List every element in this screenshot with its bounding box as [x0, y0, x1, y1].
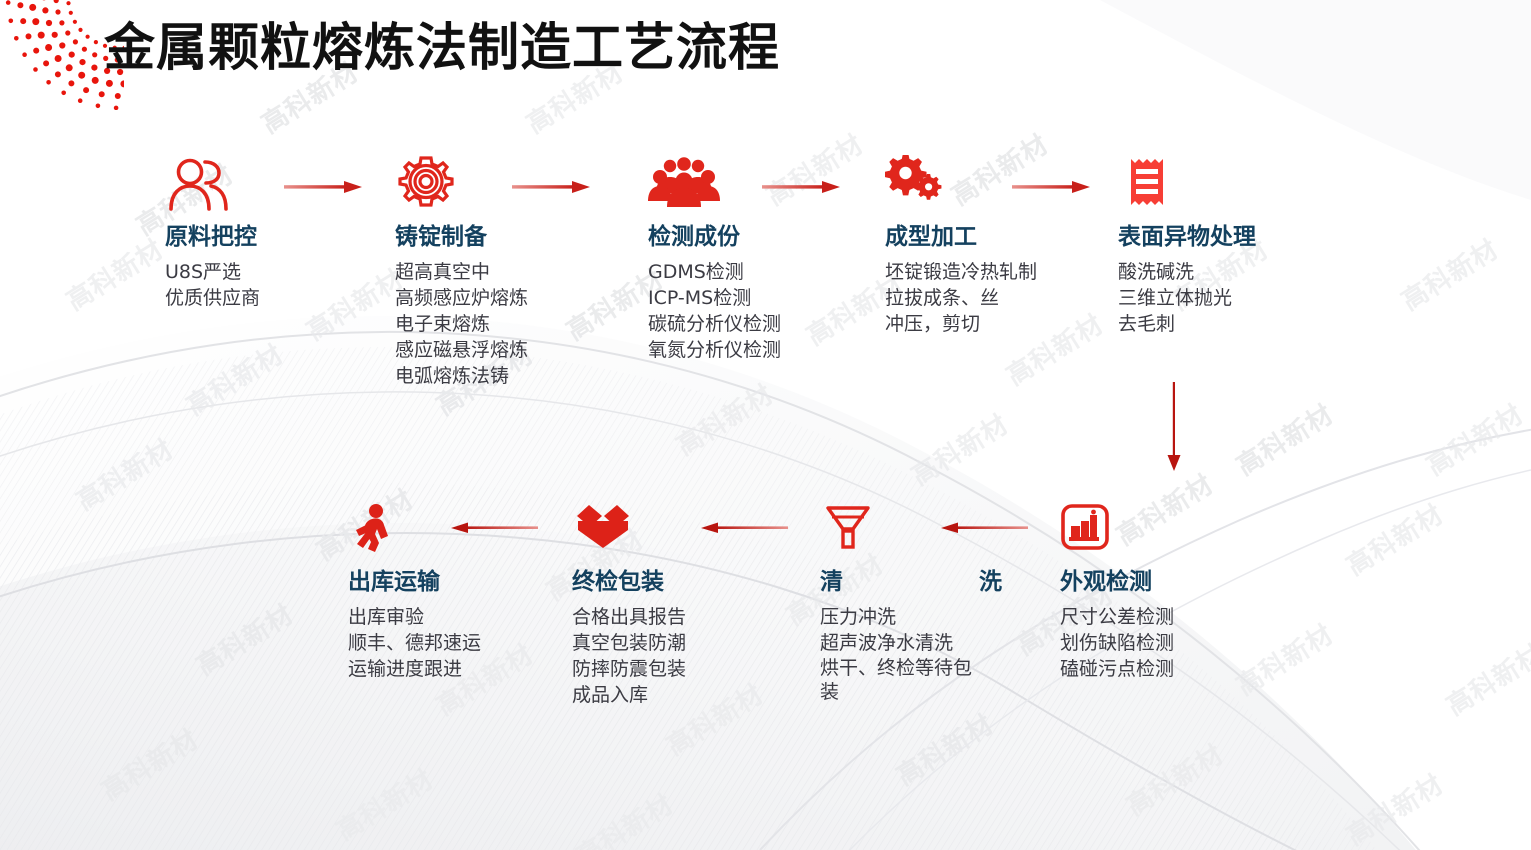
- walking-person-icon: [348, 500, 400, 556]
- step-item: 成品入库: [572, 682, 686, 708]
- flow-step-7[interactable]: 清 洗 压力冲洗 超声波净水清洗 烘干、终检等待包装: [820, 500, 1032, 704]
- step-item: 防摔防震包装: [572, 656, 686, 682]
- step-items: U8S严选 优质供应商: [165, 259, 260, 311]
- step-item: 真空包装防潮: [572, 630, 686, 656]
- people-group-icon: [648, 155, 720, 211]
- step-item: 酸洗碱洗: [1118, 259, 1256, 285]
- flow-step-6[interactable]: 外观检测 尺寸公差检测 划伤缺陷检测 磕碰污点检测: [1060, 500, 1174, 682]
- step-item: 压力冲洗: [820, 604, 1032, 630]
- flow-step-1[interactable]: 原料把控 U8S严选 优质供应商: [165, 155, 260, 311]
- step-title: 原料把控: [165, 217, 260, 251]
- step-items: 压力冲洗 超声波净水清洗 烘干、终检等待包装: [820, 604, 1032, 704]
- step-item: 高频感应炉熔炼: [395, 285, 528, 311]
- step-item: 电子束熔炼: [395, 311, 528, 337]
- factory-inspect-icon: [1060, 500, 1110, 556]
- step-item: ICP-MS检测: [648, 285, 781, 311]
- step-item: 优质供应商: [165, 285, 260, 311]
- gears-icon: [885, 155, 947, 211]
- step-title: 出库运输: [348, 562, 481, 596]
- step-item: 超高真空中: [395, 259, 528, 285]
- step-title: 表面异物处理: [1118, 217, 1256, 251]
- open-box-icon: [572, 500, 634, 556]
- step-item: 冲压，剪切: [885, 311, 1037, 337]
- step-items: GDMS检测 ICP-MS检测 碳硫分析仪检测 氧氮分析仪检测: [648, 259, 781, 363]
- step-item: GDMS检测: [648, 259, 781, 285]
- step-item: 磕碰污点检测: [1060, 656, 1174, 682]
- two-people-icon: [165, 155, 231, 211]
- step-item: 电弧熔炼法铸: [395, 363, 528, 389]
- step-item: 超声波净水清洗: [820, 630, 1032, 656]
- funnel-icon: [820, 500, 876, 556]
- step-item: 运输进度跟进: [348, 656, 481, 682]
- receipt-document-icon: [1118, 155, 1172, 211]
- step-item: 合格出具报告: [572, 604, 686, 630]
- flow-step-8[interactable]: 终检包装 合格出具报告 真空包装防潮 防摔防震包装 成品入库: [572, 500, 686, 708]
- arrow-step5-to-step6: [1164, 382, 1184, 474]
- step-title: 成型加工: [885, 217, 1037, 251]
- step-item: 拉拔成条、丝: [885, 285, 1037, 311]
- step-item: 尺寸公差检测: [1060, 604, 1174, 630]
- step-item: 三维立体抛光: [1118, 285, 1256, 311]
- step-title: 终检包装: [572, 562, 686, 596]
- step-item: 感应磁悬浮熔炼: [395, 337, 528, 363]
- page-title: 金属颗粒熔炼法制造工艺流程: [104, 6, 780, 80]
- flow-step-2[interactable]: 铸锭制备 超高真空中 高频感应炉熔炼 电子束熔炼 感应磁悬浮熔炼 电弧熔炼法铸: [395, 155, 528, 389]
- arrow-step7-to-step8: [700, 519, 788, 537]
- step-items: 超高真空中 高频感应炉熔炼 电子束熔炼 感应磁悬浮熔炼 电弧熔炼法铸: [395, 259, 528, 389]
- arrow-step2-to-step3: [512, 178, 592, 196]
- step-item: 氧氮分析仪检测: [648, 337, 781, 363]
- gear-target-icon: [395, 155, 457, 211]
- arrow-step3-to-step4: [762, 178, 842, 196]
- step-items: 出库审验 顺丰、德邦速运 运输进度跟进: [348, 604, 481, 682]
- step-title: 检测成份: [648, 217, 781, 251]
- step-item: 划伤缺陷检测: [1060, 630, 1174, 656]
- arrow-step4-to-step5: [1012, 178, 1092, 196]
- step-item: U8S严选: [165, 259, 260, 285]
- step-items: 坯锭锻造冷热轧制 拉拔成条、丝 冲压，剪切: [885, 259, 1037, 337]
- step-item: 烘干、终检等待包装: [820, 656, 975, 704]
- step-items: 合格出具报告 真空包装防潮 防摔防震包装 成品入库: [572, 604, 686, 708]
- step-item: 顺丰、德邦速运: [348, 630, 481, 656]
- step-item: 碳硫分析仪检测: [648, 311, 781, 337]
- step-item: 出库审验: [348, 604, 481, 630]
- step-items: 酸洗碱洗 三维立体抛光 去毛刺: [1118, 259, 1256, 337]
- arrow-step1-to-step2: [284, 178, 364, 196]
- step-title: 铸锭制备: [395, 217, 528, 251]
- flow-step-9[interactable]: 出库运输 出库审验 顺丰、德邦速运 运输进度跟进: [348, 500, 481, 682]
- step-items: 尺寸公差检测 划伤缺陷检测 磕碰污点检测: [1060, 604, 1174, 682]
- step-item: 坯锭锻造冷热轧制: [885, 259, 1037, 285]
- step-title: 外观检测: [1060, 562, 1174, 596]
- step-title: 清 洗: [820, 562, 1032, 596]
- flow-step-5[interactable]: 表面异物处理 酸洗碱洗 三维立体抛光 去毛刺: [1118, 155, 1256, 337]
- step-item: 去毛刺: [1118, 311, 1256, 337]
